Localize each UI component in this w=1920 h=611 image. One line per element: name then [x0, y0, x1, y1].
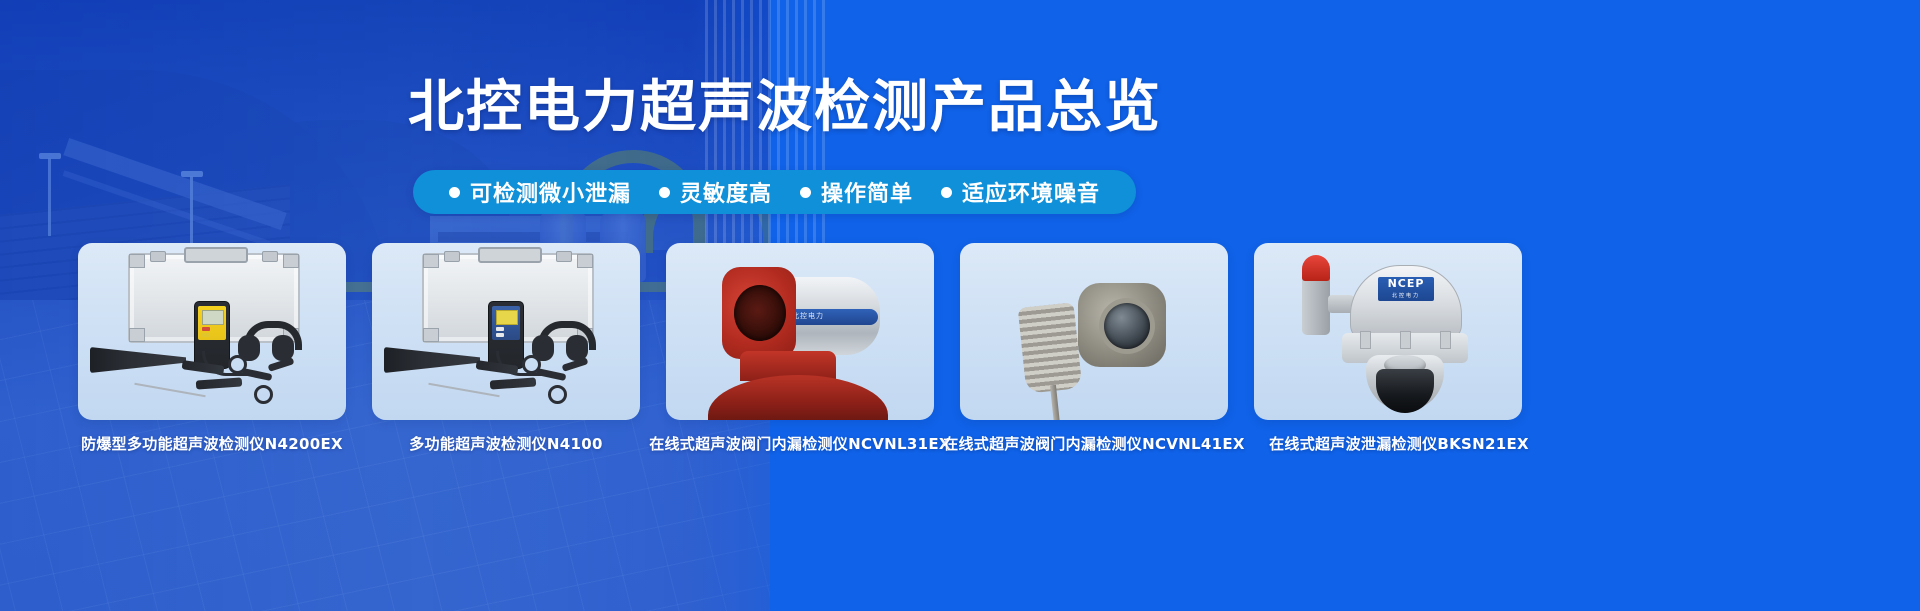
bullet-dot-icon [659, 187, 670, 198]
dome-glass [1376, 369, 1434, 413]
detector-screen [202, 310, 224, 325]
product-card-3[interactable]: 北控电力 [666, 243, 934, 420]
brand-mark: NCEP [1388, 277, 1425, 290]
horn-attachment [384, 347, 480, 373]
needle-probe-tip [134, 383, 205, 397]
product-overview-banner: 北控电力超声波检测产品总览 可检测微小泄漏 灵敏度高 操作简单 适应环境噪音 [0, 0, 1920, 611]
case-latch-left [150, 251, 166, 262]
feature-item-2: 灵敏度高 [645, 176, 786, 208]
warning-beacon [1302, 273, 1330, 335]
detector-faceplate [492, 306, 520, 340]
bullet-dot-icon [449, 187, 460, 198]
sensor-lens [1104, 303, 1150, 349]
product-caption-3: 在线式超声波阀门内漏检测仪NCVNL31EX [645, 433, 955, 454]
case-latch-right [262, 251, 278, 262]
case-latch-left [444, 251, 460, 262]
case-corner-bl [129, 328, 145, 342]
product-caption-5: 在线式超声波泄漏检测仪BKSN21EX [1254, 433, 1544, 454]
brand-mark-sub: 北控电力 [1378, 290, 1434, 303]
product-image-ncvnl31ex: 北控电力 [666, 243, 934, 420]
probe-ring-1 [228, 355, 247, 374]
ncep-brand-plate: NCEP 北控电力 [1378, 277, 1434, 301]
feature-label-1: 可检测微小泄漏 [470, 176, 631, 208]
headphones [532, 321, 588, 361]
detector-screen [496, 310, 518, 325]
bullet-dot-icon [800, 187, 811, 198]
detector-button-2 [202, 333, 210, 337]
case-latch-right [556, 251, 572, 262]
product-image-n4100 [372, 243, 640, 420]
mount-skirt [708, 375, 888, 420]
product-caption-4: 在线式超声波阀门内漏检测仪NCVNL41EX [939, 433, 1249, 454]
probe-2 [196, 377, 243, 389]
product-card-1[interactable] [78, 243, 346, 420]
product-caption-1: 防爆型多功能超声波检测仪N4200EX [78, 433, 346, 454]
case-corner-bl [423, 328, 439, 342]
feature-item-1: 可检测微小泄漏 [435, 176, 645, 208]
detector-button-2 [496, 333, 504, 337]
product-image-n4200ex [78, 243, 346, 420]
feature-highlight-bar: 可检测微小泄漏 灵敏度高 操作简单 适应环境噪音 [413, 170, 1136, 214]
case-handle [478, 247, 542, 263]
neck-ridge-1 [1360, 331, 1371, 349]
probe-ring-1 [522, 355, 541, 374]
detector-button-1 [496, 327, 504, 331]
case-corner-tl [129, 254, 145, 268]
horn-attachment [90, 347, 186, 373]
neck-ridge-2 [1400, 331, 1411, 349]
needle-probe-tip [428, 383, 499, 397]
red-flange-hub [722, 267, 796, 359]
probe-ring-2 [548, 385, 567, 404]
feature-label-4: 适应环境噪音 [962, 176, 1100, 208]
detector-faceplate [198, 306, 226, 340]
bullet-dot-icon [941, 187, 952, 198]
feature-item-3: 操作简单 [786, 176, 927, 208]
product-image-bksn21ex: NCEP 北控电力 [1254, 243, 1522, 420]
finned-barrel [1018, 302, 1083, 393]
case-corner-tr [283, 254, 299, 268]
case-handle [184, 247, 248, 263]
brand-marking-label: 北控电力 [792, 311, 824, 321]
headphones [238, 321, 294, 361]
feature-item-4: 适应环境噪音 [927, 176, 1114, 208]
banner-title: 北控电力超声波检测产品总览 [0, 76, 1570, 140]
neck-ridge-3 [1440, 331, 1451, 349]
detector-button-1 [202, 327, 210, 331]
product-card-row: 防爆型多功能超声波检测仪N4200EX [0, 243, 1920, 543]
case-corner-tl [423, 254, 439, 268]
product-caption-2: 多功能超声波检测仪N4100 [372, 433, 640, 454]
case-corner-tr [577, 254, 593, 268]
product-card-2[interactable] [372, 243, 640, 420]
product-card-5[interactable]: NCEP 北控电力 [1254, 243, 1522, 420]
feature-label-3: 操作简单 [821, 176, 913, 208]
product-card-4[interactable] [960, 243, 1228, 420]
probe-2 [490, 377, 537, 389]
feature-label-2: 灵敏度高 [680, 176, 772, 208]
product-image-ncvnl41ex [960, 243, 1228, 420]
probe-ring-2 [254, 385, 273, 404]
